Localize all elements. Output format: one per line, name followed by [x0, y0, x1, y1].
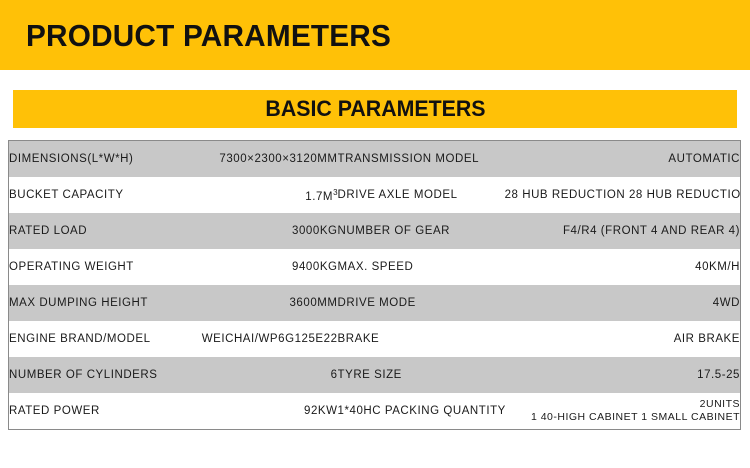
parameters-table-body: DIMENSIONS(L*W*H) 7300×2300×3120MM TRANS…: [9, 141, 741, 430]
table-row: NUMBER OF CYLINDERS 6 TYRE SIZE 17.5-25: [9, 357, 741, 393]
parameter-label: OPERATING WEIGHT: [9, 249, 181, 285]
parameter-label: BUCKET CAPACITY: [9, 177, 181, 213]
parameter-value: 3000KG: [181, 213, 338, 249]
table-row: DIMENSIONS(L*W*H) 7300×2300×3120MM TRANS…: [9, 141, 741, 178]
parameter-label: DIMENSIONS(L*W*H): [9, 141, 181, 178]
packing-units: 2UNITS: [700, 398, 740, 411]
parameter-label: DRIVE AXLE MODEL: [338, 177, 505, 213]
packing-details: 1 40-HIGH CABINET 1 SMALL CABINET: [531, 411, 740, 424]
parameter-value: 6: [181, 357, 338, 393]
basic-parameters-banner: BASIC PARAMETERS: [13, 90, 737, 128]
table-row: BUCKET CAPACITY 1.7M3 DRIVE AXLE MODEL 2…: [9, 177, 741, 213]
parameter-value: 1.7M3: [181, 177, 338, 213]
packing-quantity-value: 2UNITS 1 40-HIGH CABINET 1 SMALL CABINET: [505, 398, 740, 424]
parameter-label: NUMBER OF GEAR: [338, 213, 505, 249]
parameter-value: 3600MM: [181, 285, 338, 321]
table-row: MAX DUMPING HEIGHT 3600MM DRIVE MODE 4WD: [9, 285, 741, 321]
parameter-value: F4/R4 (FRONT 4 AND REAR 4): [505, 213, 741, 249]
parameter-value: 4WD: [505, 285, 741, 321]
parameter-value: WEICHAI/WP6G125E22: [181, 321, 338, 357]
parameter-value: AUTOMATIC: [505, 141, 741, 178]
parameter-label: 1*40HC PACKING QUANTITY: [338, 393, 505, 430]
parameter-label: TYRE SIZE: [338, 357, 505, 393]
table-row: RATED POWER 92KW 1*40HC PACKING QUANTITY…: [9, 393, 741, 430]
banner-spacer: [0, 70, 750, 90]
parameter-value: 40KM/H: [505, 249, 741, 285]
table-row: ENGINE BRAND/MODEL WEICHAI/WP6G125E22 BR…: [9, 321, 741, 357]
superscript-unit: 3: [333, 188, 337, 197]
basic-parameters-banner-wrapper: BASIC PARAMETERS: [0, 90, 750, 128]
parameter-value: 28 HUB REDUCTION 28 HUB REDUCTION: [505, 177, 741, 213]
parameters-table-wrapper: DIMENSIONS(L*W*H) 7300×2300×3120MM TRANS…: [0, 140, 750, 430]
section-spacer: [0, 128, 750, 140]
parameter-value: 7300×2300×3120MM: [181, 141, 338, 178]
parameter-label: ENGINE BRAND/MODEL: [9, 321, 181, 357]
page-title: PRODUCT PARAMETERS: [26, 20, 391, 51]
parameter-value: 2UNITS 1 40-HIGH CABINET 1 SMALL CABINET: [505, 393, 741, 430]
parameter-label: RATED POWER: [9, 393, 181, 430]
parameter-value: 17.5-25: [505, 357, 741, 393]
parameter-label: DRIVE MODE: [338, 285, 505, 321]
parameter-value-text: 1.7M: [305, 190, 333, 202]
table-row: RATED LOAD 3000KG NUMBER OF GEAR F4/R4 (…: [9, 213, 741, 249]
parameter-label: MAX DUMPING HEIGHT: [9, 285, 181, 321]
parameter-label: MAX. SPEED: [338, 249, 505, 285]
product-parameters-banner: PRODUCT PARAMETERS: [0, 0, 750, 70]
parameters-table: DIMENSIONS(L*W*H) 7300×2300×3120MM TRANS…: [8, 140, 741, 430]
parameter-label: TRANSMISSION MODEL: [338, 141, 505, 178]
section-title: BASIC PARAMETERS: [265, 98, 485, 120]
parameter-label: RATED LOAD: [9, 213, 181, 249]
parameter-value: AIR BRAKE: [505, 321, 741, 357]
table-row: OPERATING WEIGHT 9400KG MAX. SPEED 40KM/…: [9, 249, 741, 285]
parameter-label: NUMBER OF CYLINDERS: [9, 357, 181, 393]
parameter-value: 9400KG: [181, 249, 338, 285]
parameter-value: 92KW: [181, 393, 338, 430]
parameter-label: BRAKE: [338, 321, 505, 357]
